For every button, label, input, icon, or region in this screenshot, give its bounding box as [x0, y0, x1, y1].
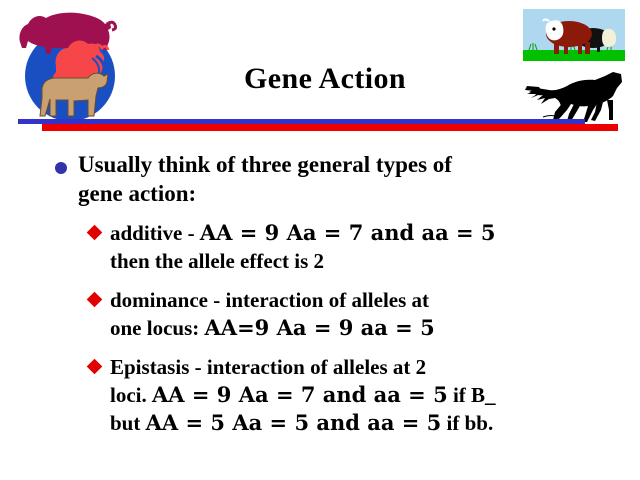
slide: Gene Action [0, 0, 640, 480]
epistasis-genotype-values-bb: AA = 5 Aa = 5 and aa = 5 [146, 410, 442, 435]
epistasis-genotype-values-b: AA = 9 Aa = 7 and aa = 5 [152, 382, 448, 407]
additive-line2: then the allele effect is 2 [110, 247, 640, 275]
round-bullet-icon [55, 162, 67, 174]
page-title: Gene Action [160, 64, 490, 94]
animal-sciences-logo-icon [12, 4, 128, 124]
dominance-line2: one locus: AA=9 Aa = 9 aa = 5 [110, 314, 640, 342]
epistasis-line2: loci. AA = 9 Aa = 7 and aa = 5 if B_ [110, 381, 640, 409]
cattle-grazing-photo [523, 9, 625, 61]
additive-label: additive - [110, 221, 200, 245]
diamond-bullet-icon [87, 292, 103, 308]
bullet-level2-dominance: dominance - interaction of alleles at on… [0, 286, 640, 342]
bullet-level2-additive: additive - AA = 9 Aa = 7 and aa = 5 then… [0, 219, 640, 275]
bullet-level1-line2: gene action: [78, 179, 640, 208]
bullet-level2-epistasis: Epistasis - interaction of alleles at 2 … [0, 353, 640, 437]
epistasis-line2-suffix: if B_ [448, 383, 496, 407]
epistasis-loci-prefix: loci. [110, 383, 152, 407]
bullet-level1-usually-think: Usually think of three general types of … [0, 150, 640, 208]
galloping-horse-silhouette-icon [525, 70, 625, 125]
epistasis-line3-suffix: if bb. [441, 411, 493, 435]
diamond-bullet-icon [87, 359, 103, 375]
bullet-level1-line1: Usually think of three general types of [78, 150, 640, 179]
slide-body: Usually think of three general types of … [0, 134, 640, 480]
epistasis-but-prefix: but [110, 411, 146, 435]
additive-line1: additive - AA = 9 Aa = 7 and aa = 5 [110, 219, 640, 247]
header-rule-red [42, 124, 618, 131]
epistasis-line3: but AA = 5 Aa = 5 and aa = 5 if bb. [110, 409, 640, 437]
diamond-bullet-icon [87, 225, 103, 241]
slide-header: Gene Action [0, 0, 640, 134]
dominance-genotype-values: AA=9 Aa = 9 aa = 5 [205, 315, 435, 340]
additive-genotype-values: AA = 9 Aa = 7 and aa = 5 [200, 220, 496, 245]
epistasis-line1: Epistasis - interaction of alleles at 2 [110, 353, 640, 381]
dominance-line1: dominance - interaction of alleles at [110, 286, 640, 314]
dominance-locus-label: one locus: [110, 316, 205, 340]
